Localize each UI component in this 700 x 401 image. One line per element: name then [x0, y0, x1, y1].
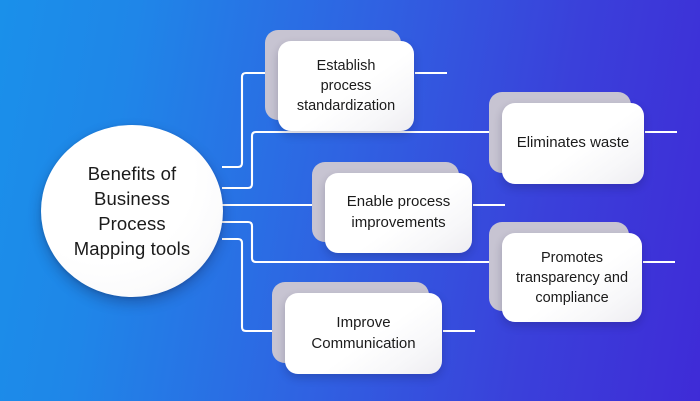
node-card[interactable]: Establish process standardization: [278, 41, 414, 131]
diagram-canvas: Benefits of Business Process Mapping too…: [0, 0, 700, 401]
node-communication[interactable]: Improve Communication: [272, 282, 429, 363]
node-label: Eliminates waste: [507, 133, 640, 154]
node-label: Establish process standardization: [287, 56, 405, 116]
node-card[interactable]: Eliminates waste: [502, 103, 644, 184]
node-card[interactable]: Enable process improvements: [325, 173, 472, 253]
node-eliminates[interactable]: Eliminates waste: [489, 92, 631, 173]
node-label: Improve Communication: [301, 313, 425, 354]
node-card[interactable]: Improve Communication: [285, 293, 442, 374]
node-improvements[interactable]: Enable process improvements: [312, 162, 459, 242]
hub-label: Benefits of Business Process Mapping too…: [60, 161, 204, 262]
node-standardization[interactable]: Establish process standardization: [265, 30, 401, 120]
node-card[interactable]: Promotes transparency and compliance: [502, 233, 642, 322]
node-label: Enable process improvements: [337, 192, 460, 233]
node-label: Promotes transparency and compliance: [506, 248, 638, 308]
node-transparency[interactable]: Promotes transparency and compliance: [489, 222, 629, 311]
hub-node[interactable]: Benefits of Business Process Mapping too…: [41, 125, 223, 297]
